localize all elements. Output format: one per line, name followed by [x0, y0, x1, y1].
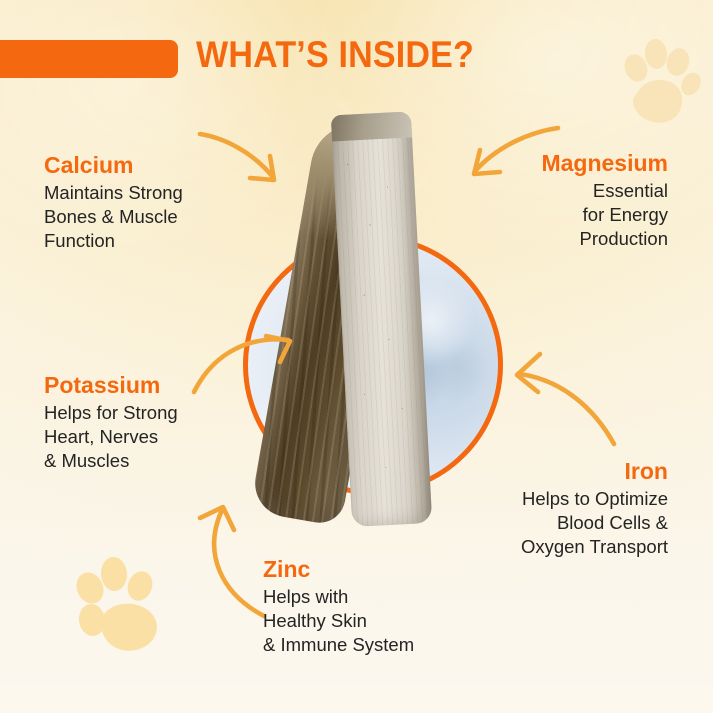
- page-title: WHAT’S INSIDE?: [196, 34, 474, 76]
- infographic-canvas: WHAT’S INSIDE? Calcium Maint: [0, 0, 713, 713]
- nutrient-potassium-title: Potassium: [44, 372, 259, 399]
- nutrient-calcium-title: Calcium: [44, 152, 259, 179]
- nutrient-potassium-description: Helps for Strong Heart, Nerves & Muscles: [44, 401, 259, 473]
- nutrient-zinc-description: Helps with Healthy Skin & Immune System: [263, 585, 493, 657]
- nutrient-calcium: Calcium Maintains Strong Bones & Muscle …: [44, 152, 259, 253]
- nutrient-iron: Iron Helps to Optimize Blood Cells & Oxy…: [465, 458, 668, 559]
- nutrient-zinc-title: Zinc: [263, 556, 493, 583]
- paw-print-icon: [618, 32, 702, 124]
- nutrient-magnesium-title: Magnesium: [468, 150, 668, 177]
- paw-print-icon: [70, 548, 166, 652]
- nutrient-magnesium-description: Essential for Energy Production: [468, 179, 668, 251]
- nutrient-calcium-description: Maintains Strong Bones & Muscle Function: [44, 181, 259, 253]
- nutrient-magnesium: Magnesium Essential for Energy Productio…: [468, 150, 668, 251]
- nutrient-zinc: Zinc Helps with Healthy Skin & Immune Sy…: [263, 556, 493, 657]
- nutrient-iron-description: Helps to Optimize Blood Cells & Oxygen T…: [465, 487, 668, 559]
- hero-product-circle: [243, 235, 503, 495]
- header-accent-bar: [0, 40, 178, 78]
- nutrient-potassium: Potassium Helps for Strong Heart, Nerves…: [44, 372, 259, 473]
- arrow-to-center-iron: [510, 348, 620, 452]
- nutrient-iron-title: Iron: [465, 458, 668, 485]
